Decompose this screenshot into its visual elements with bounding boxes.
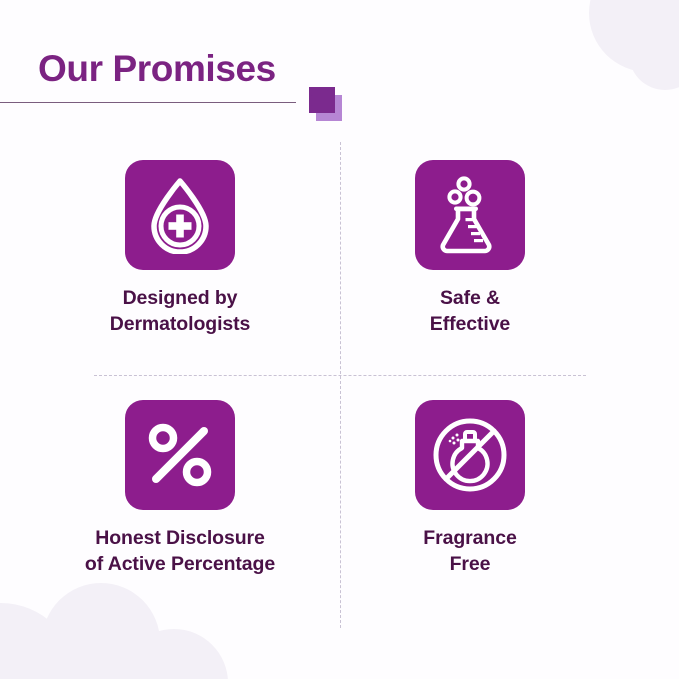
no-perfume-icon [430,415,510,495]
plus-ornament-front-icon [309,87,335,113]
promise-cell-designed-by-dermatologists[interactable]: Designed by Dermatologists [35,160,325,338]
page-title: Our Promises [38,48,276,90]
background-blob-bottom-left-bar [0,639,200,679]
title-underline [0,102,296,103]
promise-cell-fragrance-free[interactable]: Fragrance Free [325,400,615,578]
promise-icon-tile [125,400,235,510]
background-blob-top-right-a [589,0,679,72]
promise-icon-tile [125,160,235,270]
promise-label: Safe & Effective [325,286,615,338]
plus-ornament-icon [307,86,345,124]
droplet-plus-icon [143,176,217,254]
background-blob-top-right-b [629,18,679,90]
percent-icon [145,420,215,490]
promise-cell-honest-disclosure[interactable]: Honest Disclosure of Active Percentage [35,400,325,578]
promise-icon-tile [415,160,525,270]
flask-icon [433,175,507,255]
grid-divider-horizontal [94,375,586,376]
promise-label: Fragrance Free [325,526,615,578]
promise-label: Designed by Dermatologists [35,286,325,338]
promise-icon-tile [415,400,525,510]
promise-label: Honest Disclosure of Active Percentage [35,526,325,578]
promise-cell-safe-and-effective[interactable]: Safe & Effective [325,160,615,338]
promises-card: Our Promises Designed by [0,0,679,679]
promise-grid: Designed by Dermatologists [0,140,679,640]
